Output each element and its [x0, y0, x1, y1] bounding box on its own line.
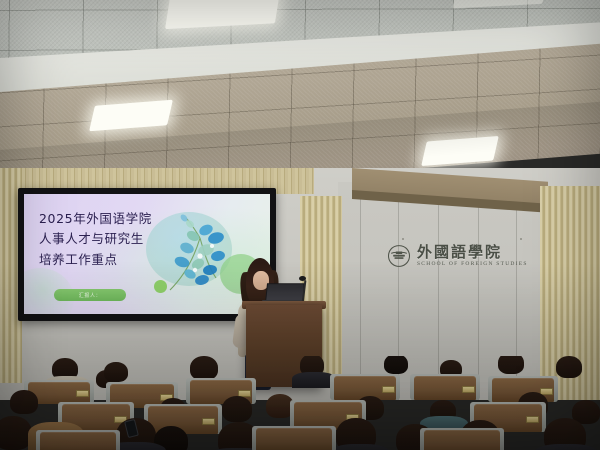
audience-head [556, 356, 582, 378]
wall-signage: 外國語學院 SCHOOL OF FOREIGN STUDIES [386, 236, 536, 276]
auditorium-seat [40, 432, 116, 450]
audience-shoulders [534, 444, 598, 450]
signage-text-block: 外國語學院 SCHOOL OF FOREIGN STUDIES [417, 245, 528, 268]
seat-number-plate [526, 416, 539, 423]
microphone-head [299, 276, 306, 281]
signage-chinese: 外國語學院 [417, 245, 528, 261]
audience-seating [0, 356, 600, 450]
slide-presenter-badge-text: 汇报人： [79, 292, 101, 299]
audience-head [10, 390, 38, 414]
audience-shoulders [330, 444, 390, 450]
seat-number-plate [202, 418, 215, 425]
auditorium-seat [424, 430, 500, 450]
seat-number-plate [462, 386, 475, 393]
seat-number-plate [76, 390, 89, 397]
auditorium-seat [256, 428, 332, 450]
university-crest-icon [386, 243, 412, 269]
slide-title-line-2: 人事人才与研究生 [39, 229, 167, 249]
signage-english: SCHOOL OF FOREIGN STUDIES [417, 261, 528, 267]
slide-title-line-3: 培养工作重点 [39, 250, 167, 270]
audience-head [384, 356, 408, 374]
audience-head [498, 356, 524, 374]
lecture-hall-photo: 外國語學院 SCHOOL OF FOREIGN STUDIES [0, 0, 600, 450]
audience-head [104, 362, 128, 382]
slide-title: 2025年外国语学院 人事人才与研究生 培养工作重点 [39, 209, 167, 270]
audience-head [222, 396, 252, 422]
seat-number-plate [382, 386, 395, 393]
slide-botanical-graphic [160, 212, 238, 294]
slide-title-line-1: 2025年外国语学院 [39, 209, 167, 229]
audience-head [190, 356, 218, 380]
slide-presenter-badge: 汇报人： [54, 289, 126, 301]
